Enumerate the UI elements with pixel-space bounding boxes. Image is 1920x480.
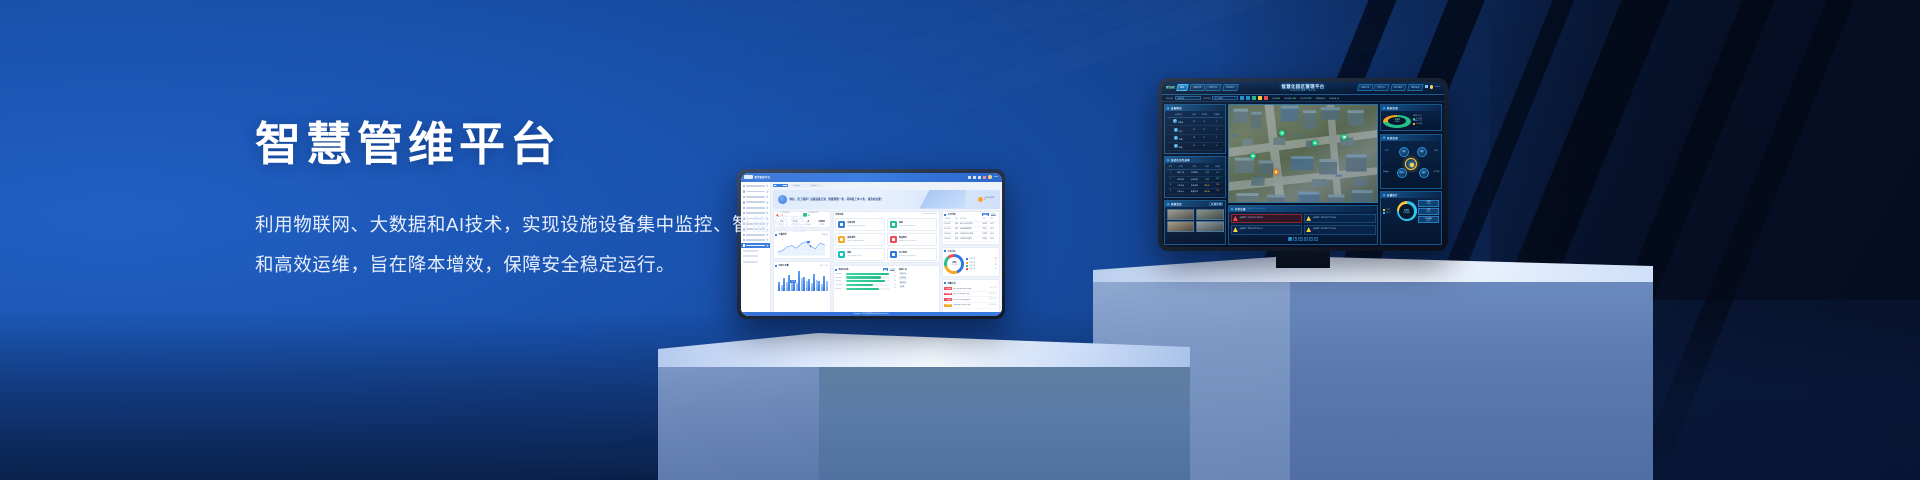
status-total: 设备总数 1280 xyxy=(1284,97,1296,100)
hero-subtitle: 利用物联网、大数据和AI技术，实现设施设备集中监控、智能预警 和高效运维，旨在降… xyxy=(255,205,875,285)
bell-icon xyxy=(978,197,983,202)
bell-icon[interactable] xyxy=(983,176,986,179)
alarm-stats-legend: 已处理 处理中 xyxy=(1383,209,1395,214)
dark-datetime: 2023-03-27 星期一 13:25:36 xyxy=(1290,90,1315,92)
quick-link-item[interactable]: 巡检计划› xyxy=(899,281,937,284)
dark-nav-tab-reports[interactable]: 统计报表 xyxy=(1390,84,1406,91)
tab-pending[interactable]: 待处理 xyxy=(982,213,989,216)
map-pin[interactable] xyxy=(1341,134,1347,142)
tab-done[interactable]: 已完成 xyxy=(990,213,997,216)
status-offline: 离线设备 60 xyxy=(1329,97,1339,100)
page-button[interactable]: 1 xyxy=(1288,237,1292,240)
inspection-table: 序号 区域 任务 状态 完成率 1A区厂房日常巡检完成97% 2B区车间设备点检… xyxy=(1167,165,1223,196)
legend-item: 巡检工单52 xyxy=(966,265,996,267)
app-desc: 安全检查与隐患整改跟踪 xyxy=(899,255,916,257)
status-normal: 运行正常 1196 xyxy=(1300,97,1312,100)
fullscreen-icon[interactable] xyxy=(978,176,981,179)
app-icon xyxy=(890,251,897,258)
quick-link-item[interactable]: 设备台账› xyxy=(899,277,937,280)
alarm-stats-values: 1.25 已处理 24 处理中 75.12% xyxy=(1418,200,1439,224)
environment-node[interactable]: 噪声 xyxy=(1419,168,1429,178)
card-title: 快捷入口 xyxy=(899,268,907,271)
environment-node[interactable]: 湿度 xyxy=(1417,147,1427,157)
status-alarm: 告警数量 24 xyxy=(1315,97,1325,100)
card-header: 工单列表 待处理 已完成 xyxy=(944,213,996,216)
table-row: 4D区办公能耗抄表待开始35% xyxy=(1167,188,1223,194)
app-tile[interactable]: 备品备件备品备件库存查询与出入库 xyxy=(887,233,937,246)
panel-title: 告警统计 xyxy=(1387,193,1398,197)
legend-item: 已处理 xyxy=(1383,209,1395,211)
legend-item: 其他工单30 xyxy=(966,268,996,270)
card-title: 工单分布 xyxy=(948,250,956,253)
panel-title: 视频监控 xyxy=(1171,202,1182,206)
map-pin-alert[interactable] xyxy=(1273,169,1279,177)
light-username: admin xyxy=(994,176,999,178)
hero-banner: 智慧园区 首页 设备管理 能耗分析 安防监控 智慧化园区管理平台 2023-03… xyxy=(0,0,1920,480)
energy-center-label: 万kWh xyxy=(1390,121,1404,123)
table-row: 照明16160 xyxy=(1167,142,1223,150)
app-icon xyxy=(890,221,897,228)
pedestal-front-face-left xyxy=(658,361,819,480)
panel-title: 能耗监测 xyxy=(1387,106,1398,110)
legend-item: 保养工单78 xyxy=(966,262,996,264)
status-badge: 一般预警 xyxy=(944,298,952,301)
dark-brand-label: 智慧园区 xyxy=(1166,85,1175,89)
panel-header: 能耗监测 xyxy=(1381,105,1441,111)
menu-icon[interactable] xyxy=(973,176,976,179)
dark-nav-tab-devices[interactable]: 设备管理 xyxy=(1189,84,1205,91)
app-label: 巡检 xyxy=(899,221,916,224)
stat-chip: 75.12% 未处理 xyxy=(1418,216,1439,223)
app-label: 备品备件 xyxy=(899,236,917,239)
status-badge: 严重预警 xyxy=(944,293,952,296)
page-button[interactable]: 2 xyxy=(1293,237,1297,240)
donut-legend: 报修工单126 保养工单78 巡检工单52 其他工单30 xyxy=(966,258,996,270)
dark-right-column: 能耗监测 1.23 万kWh xyxy=(1380,104,1442,245)
todo-count: 8 xyxy=(984,199,985,201)
environment-node[interactable]: PM2.5 xyxy=(1397,168,1407,178)
pie-icon xyxy=(944,250,946,252)
table-row: 电力52520 xyxy=(1167,126,1223,134)
filter-button-alert[interactable] xyxy=(1264,96,1268,100)
tab-month[interactable]: 本月 xyxy=(883,268,888,271)
panel-header: 实时告警 Real Time Alarm xyxy=(1229,206,1377,212)
dark-nav-tab-security[interactable]: 安防监控 xyxy=(1222,84,1238,91)
panel-realtime-alarms: 实时告警 Real Time Alarm A区1号配电柜温度异常告警 设备编号：… xyxy=(1228,205,1378,245)
header-icons: admin xyxy=(968,175,999,179)
camera-area-select[interactable]: 全部区域 xyxy=(1209,202,1223,206)
panel-title: 环境监测 xyxy=(1387,136,1398,140)
filter-button-reset[interactable] xyxy=(1246,96,1250,100)
alarm-detail: 设备编号：2023-03-27 13:05:17 xyxy=(1239,229,1262,230)
list-icon xyxy=(944,214,946,216)
page-title: 智慧管维平台 xyxy=(255,118,875,171)
map-pin[interactable] xyxy=(1250,153,1256,161)
filter-select-time[interactable]: 近7天数据 xyxy=(1212,96,1238,100)
avatar[interactable] xyxy=(988,175,992,179)
alarm-detail: 设备编号：2023-03-27 13:22:08 xyxy=(1239,218,1262,219)
list-item[interactable]: 提示预警D区备品备件库存低于阈值03-26 18:40 xyxy=(944,303,996,309)
page-button[interactable]: 3 xyxy=(1298,237,1302,240)
pedestal-front-top xyxy=(658,333,1190,367)
dark-nav-tab-settings[interactable]: 系统设置 xyxy=(1407,84,1423,91)
panel-title: 实时告警 xyxy=(1235,207,1246,211)
dark-nav-tab-tickets[interactable]: 运维工单 xyxy=(1357,84,1373,91)
environment-value: 38μg/m³ xyxy=(1383,171,1389,173)
banner-decoration xyxy=(920,190,966,209)
alarm-item[interactable]: D区4号照明回路故障告警 设备编号：2023-03-27 12:58:02 xyxy=(1304,225,1376,235)
dark-nav-tab-home[interactable]: 首页 xyxy=(1177,84,1189,91)
dark-nav-tab-energy[interactable]: 能耗分析 xyxy=(1206,84,1222,91)
pedestal-back-face-right xyxy=(1289,268,1653,480)
app-desc: 发起并跟踪日常巡检任务 xyxy=(899,225,916,227)
search-icon[interactable] xyxy=(968,176,971,179)
energy-3d-donut: 1.23 万kWh xyxy=(1383,113,1411,129)
panel-title: 巡检任务完成率 xyxy=(1171,158,1190,162)
camera-feed[interactable] xyxy=(1167,209,1195,220)
camera-feed[interactable] xyxy=(1196,221,1224,232)
legend-item: 报修工单126 xyxy=(966,258,996,260)
alarm-detail: 设备编号：2023-03-27 12:58:02 xyxy=(1313,229,1336,230)
map-pin[interactable] xyxy=(1279,130,1285,138)
quick-link-item[interactable]: 知识库› xyxy=(899,286,937,289)
dark-nav-tab-alarms[interactable]: 告警中心 xyxy=(1374,84,1390,91)
environment-node[interactable]: 温度 xyxy=(1399,147,1409,157)
panel-title: 设备概览 xyxy=(1171,106,1182,110)
alert-list: 严重预警A区1号配电柜温度异常偏高03-27 13:22 严重预警B区2号冷水机… xyxy=(944,286,996,308)
donut-center-label: 工单总数 xyxy=(944,264,964,266)
panel-header: 视频监控 全部区域 xyxy=(1165,201,1225,207)
filter-tabs: 本月 本季度 xyxy=(883,268,896,271)
quick-link-item[interactable]: 新建工单› xyxy=(899,273,937,276)
card-header: 工单分布 xyxy=(944,250,996,253)
app-icon xyxy=(890,236,897,243)
filter-select-park[interactable]: 全部园区 xyxy=(1175,96,1201,100)
device-overview-table: 设备类型 总数 在线数 告警数 给排水24231 电力52520 空调18171 xyxy=(1167,113,1223,152)
hero-copy: 智慧管维平台 利用物联网、大数据和AI技术，实现设施设备集中监控、智能预警 和高… xyxy=(255,118,875,285)
panel-header: 环境监测 xyxy=(1381,135,1441,141)
device-icon xyxy=(1173,119,1177,123)
card-alerts: 预警信息 严重预警A区1号配电柜温度异常偏高03-27 13:22 严重预警B区… xyxy=(942,279,1000,313)
dark-body: 设备概览 设备类型 总数 在线数 告警数 xyxy=(1162,102,1444,247)
environment-value: 52.7dB xyxy=(1434,171,1439,173)
legend-item: 25.8%3172 xyxy=(1413,121,1439,122)
light-footer: Copyright © 2023 智慧管维平台 All Rights Reser… xyxy=(741,312,1002,316)
device-icon xyxy=(1174,136,1178,140)
dark-nav-left: 智慧园区 首页 设备管理 能耗分析 安防监控 xyxy=(1166,84,1238,91)
panel-subtitle: Real Time Alarm xyxy=(1248,208,1266,210)
device-icon xyxy=(1174,144,1178,148)
alarm-pagination: 1 2 3 4 5 » xyxy=(1229,236,1377,242)
panel-energy: 能耗监测 1.23 万kWh xyxy=(1380,104,1442,131)
alarm-grid: A区1号配电柜温度异常告警 设备编号：2023-03-27 13:22:08 B… xyxy=(1229,212,1377,236)
device-icon xyxy=(1174,128,1178,132)
table-row: WX-2304报修D区照明灯具更换待验收03-26 xyxy=(944,237,996,242)
app-label: 安全管理 xyxy=(899,251,916,254)
dark-username: admin xyxy=(1435,86,1440,88)
alarm-warning-icon xyxy=(1233,216,1238,221)
status-online: 在线 87% xyxy=(1272,97,1280,100)
legend-item: 74.2%9128 xyxy=(1413,116,1439,117)
panel-inspection: 巡检任务完成率 序号 区域 任务 状态 xyxy=(1164,156,1226,198)
filter-label-park: 园区选择 xyxy=(1166,97,1173,100)
dark-dashboard: 智慧园区 首页 设备管理 能耗分析 安防监控 智慧化园区管理平台 2023-03… xyxy=(1162,82,1444,247)
camera-grid xyxy=(1165,207,1225,233)
park-3d-map[interactable] xyxy=(1228,104,1378,203)
table-row: 给排水24231 xyxy=(1167,118,1223,126)
status-badge: 提示预警 xyxy=(944,304,952,307)
stat-chip: 24 处理中 xyxy=(1418,208,1439,215)
filter-label-time: 时间范围 xyxy=(1203,97,1210,100)
card-header: 预警信息 xyxy=(944,282,996,285)
legend-item: 办公用电 xyxy=(1413,123,1439,125)
alarm-warning-icon xyxy=(1233,227,1238,232)
app-tile[interactable]: 巡检发起并跟踪日常巡检任务 xyxy=(887,218,937,231)
dark-center-column: 实时告警 Real Time Alarm A区1号配电柜温度异常告警 设备编号：… xyxy=(1228,104,1378,245)
environment-value: 56% xyxy=(1435,150,1438,152)
alarm-center-label: 总告警数 xyxy=(1397,212,1417,214)
dark-left-column: 设备概览 设备类型 总数 在线数 告警数 xyxy=(1164,104,1226,245)
dark-filter-bar: 园区选择 全部园区 时间范围 近7天数据 在线 87% 设备总数 xyxy=(1162,95,1444,102)
filter-button-export[interactable] xyxy=(1252,96,1256,100)
donut-chart: 286 工单总数 报修工单126 保养工单78 巡检工单52 其他工单30 xyxy=(944,254,996,274)
pedestal-front-face-right xyxy=(818,349,1190,480)
tab-quarter[interactable]: 本季度 xyxy=(889,268,896,271)
environment-node-graph: 温度 湿度 PM2.5 噪声 23℃ 56% 38μg/m³ 52.7dB xyxy=(1383,142,1439,186)
panel-header: 巡检任务完成率 xyxy=(1165,157,1225,163)
alarm-warning-icon xyxy=(1306,216,1311,221)
alarm-stats-donut: 125 总告警数 xyxy=(1397,201,1417,221)
ticket-table: 工单编号 类型 报修内容 状态 时间 WX-2301报修A区三层空调不制冷待派单… xyxy=(944,218,996,243)
dark-nav-right: 运维工单 告警中心 统计报表 系统设置 admin xyxy=(1358,84,1440,91)
panel-device-overview: 设备概览 设备类型 总数 在线数 告警数 xyxy=(1164,104,1226,154)
environment-value: 23℃ xyxy=(1385,150,1389,152)
status-badge: 严重预警 xyxy=(944,287,952,290)
page-button[interactable]: 5 xyxy=(1309,237,1313,240)
page-next-button[interactable]: » xyxy=(1314,237,1318,240)
card-title: 预警信息 xyxy=(948,282,956,285)
legend-item: 生产用电 xyxy=(1413,118,1439,120)
camera-feed[interactable] xyxy=(1196,209,1224,220)
subtitle-line-2: 和高效运维，旨在降本增效，保障安全稳定运行。 xyxy=(255,245,875,285)
table-row: 空调18171 xyxy=(1167,134,1223,142)
filter-button-search[interactable] xyxy=(1240,96,1244,100)
banner-todo[interactable]: 今日待办事项 8 xyxy=(978,197,995,202)
stat-chip: 1.25 已处理 xyxy=(1418,200,1439,207)
app-desc: 备品备件库存查询与出入库 xyxy=(899,240,917,242)
monitor-back-screen: 智慧园区 首页 设备管理 能耗分析 安防监控 智慧化园区管理平台 2023-03… xyxy=(1162,82,1444,247)
filter-tabs: 待处理 已完成 xyxy=(982,213,997,216)
card-title: 工单列表 xyxy=(948,213,956,216)
alarm-detail: 设备编号：2023-03-27 13:18:44 xyxy=(1313,218,1336,219)
panel-header: 告警统计 xyxy=(1381,192,1441,198)
card-ticket-table: 工单列表 待处理 已完成 工单编号 xyxy=(942,211,1000,246)
panel-environment: 环境监测 温度 湿度 PM2.5 噪声 23℃ xyxy=(1380,134,1442,189)
pedestal-back-top xyxy=(1093,256,1653,282)
alarm-warning-icon xyxy=(1306,227,1311,232)
dark-header: 智慧园区 首页 设备管理 能耗分析 安防监控 智慧化园区管理平台 2023-03… xyxy=(1162,82,1444,95)
environment-center-node xyxy=(1405,158,1417,170)
panel-camera: 视频监控 全部区域 xyxy=(1164,200,1226,245)
grid-icon[interactable] xyxy=(1425,85,1428,88)
monitor-front-stand xyxy=(847,318,895,334)
todo-label: 今日待办事项 xyxy=(984,197,994,199)
bell-icon xyxy=(944,282,946,284)
monitor-back: 智慧园区 首页 设备管理 能耗分析 安防监控 智慧化园区管理平台 2023-03… xyxy=(1158,78,1448,251)
legend-item: 处理中 xyxy=(1383,212,1395,214)
grid-right-column: 工单列表 待处理 已完成 工单编号 xyxy=(942,211,1000,314)
alarm-item[interactable]: A区1号配电柜温度异常告警 设备编号：2023-03-27 13:22:08 xyxy=(1231,214,1303,224)
card-ticket-distribution: 工单分布 286 工单总数 xyxy=(942,247,1000,277)
energy-legend: 74.2%9128 生产用电 25.8%3172 办公用电 xyxy=(1413,116,1439,126)
card-header: 快捷入口 xyxy=(899,268,937,271)
panel-header: 设备概览 xyxy=(1165,105,1225,111)
pedestal-front xyxy=(658,333,1190,480)
panel-alarm-stats: 告警统计 已处理 处理中 xyxy=(1380,191,1442,245)
monitor-back-bezel: 智慧园区 首页 设备管理 能耗分析 安防监控 智慧化园区管理平台 2023-03… xyxy=(1158,78,1448,251)
progress-row: 配电维保74 xyxy=(835,288,896,290)
alarm-item[interactable]: B区2号空调机组压力偏高 设备编号：2023-03-27 13:18:44 xyxy=(1304,214,1376,224)
page-button[interactable]: 4 xyxy=(1304,237,1308,240)
avatar[interactable] xyxy=(1430,85,1434,89)
subtitle-line-1: 利用物联网、大数据和AI技术，实现设施设备集中监控、智能预警 xyxy=(255,205,875,245)
camera-feed[interactable] xyxy=(1167,221,1195,232)
alarm-item[interactable]: C区3号水泵运行电流超限 设备编号：2023-03-27 13:05:17 xyxy=(1231,225,1303,235)
monitor-back-stand xyxy=(1276,250,1330,268)
card-subtitle: Common Functions xyxy=(923,214,937,215)
app-tile[interactable]: 安全管理安全检查与隐患整改跟踪 xyxy=(887,248,937,261)
filter-button-refresh[interactable] xyxy=(1258,96,1262,100)
map-pin[interactable] xyxy=(1312,140,1318,148)
